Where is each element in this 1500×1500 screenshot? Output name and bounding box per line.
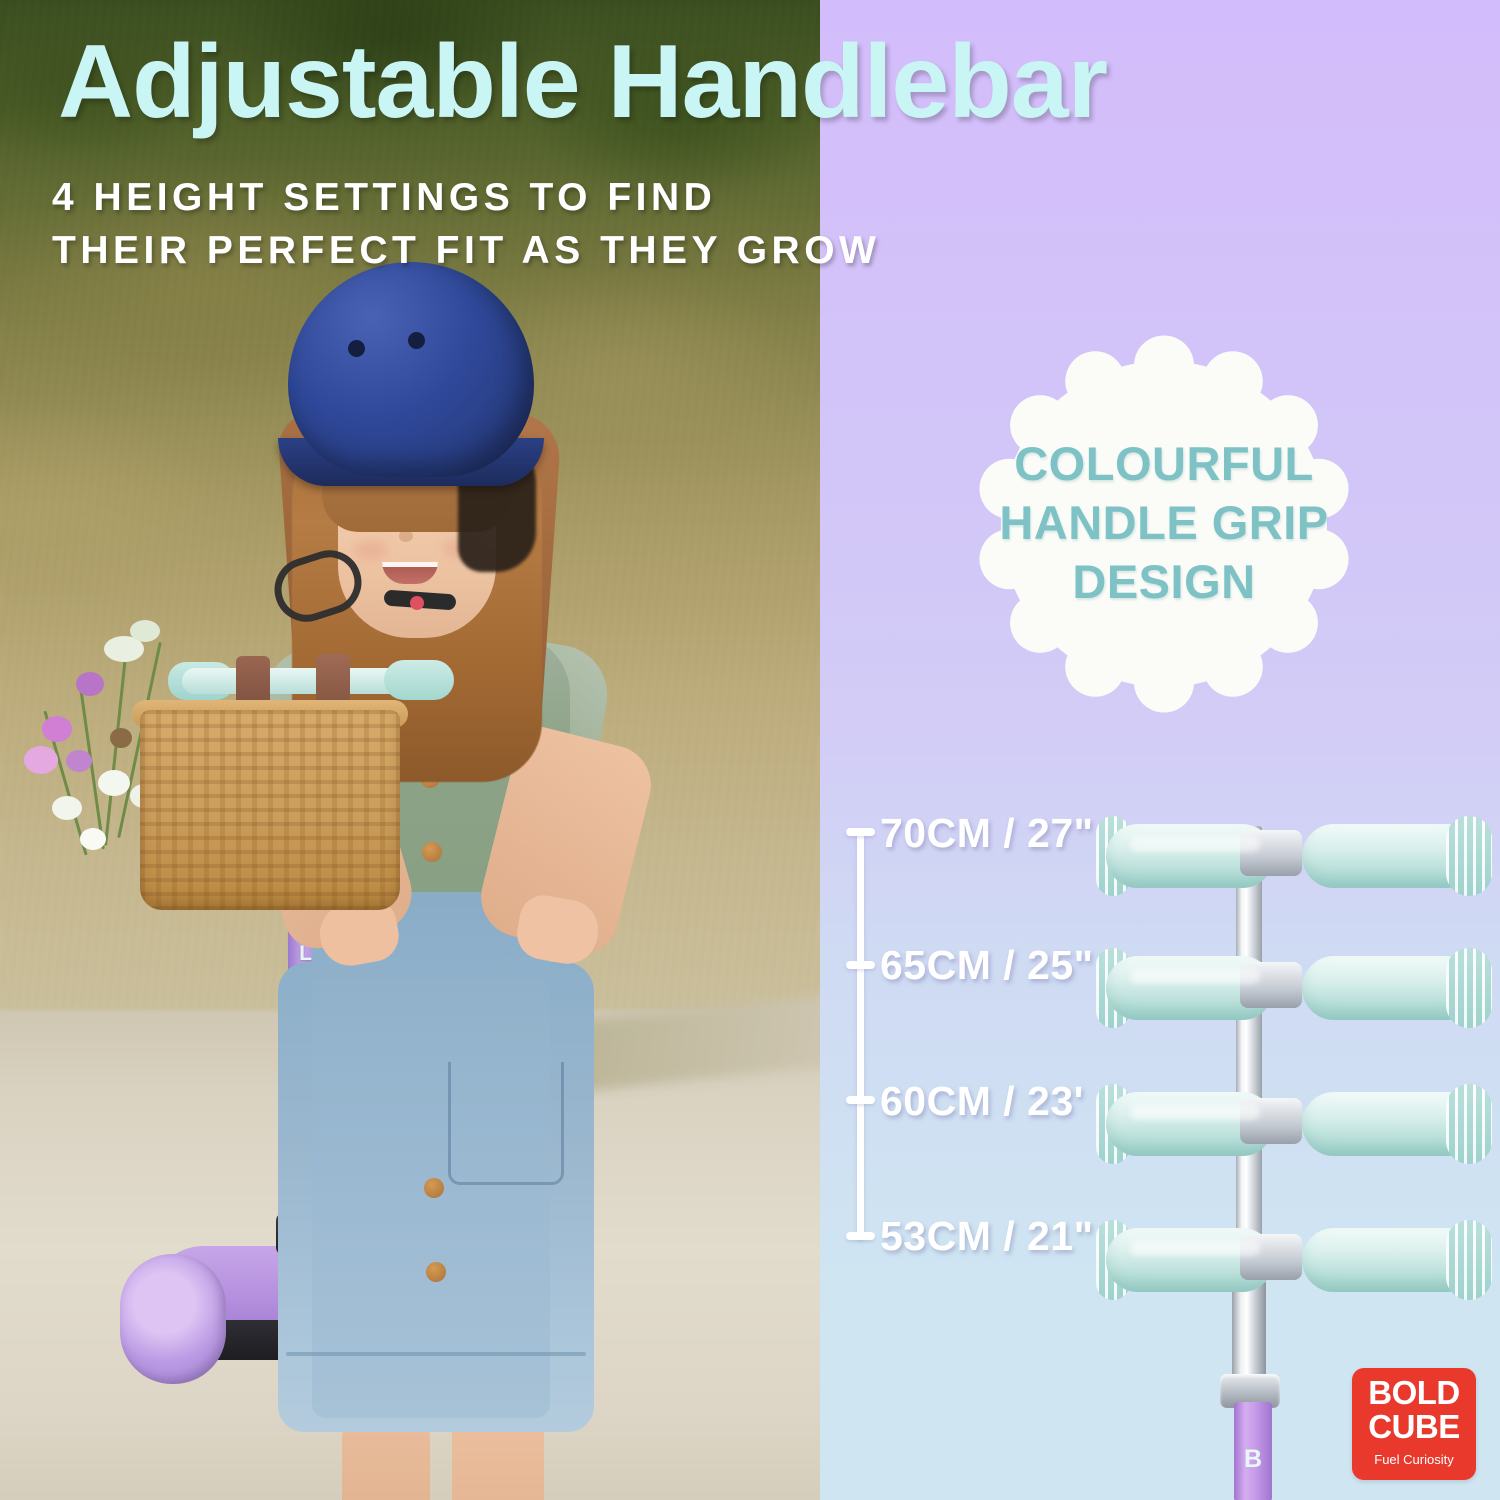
logo-line-cube: CUBE (1352, 1411, 1476, 1443)
grip-highlight (1130, 968, 1260, 984)
dress-button (422, 842, 442, 862)
handlebar-setting-53cm (1090, 1214, 1500, 1306)
logo-line-bold: BOLD (1352, 1377, 1476, 1409)
dress-button (424, 1178, 444, 1198)
height-ruler (846, 828, 874, 1240)
dress-pocket (448, 1062, 564, 1185)
badge-line-2: HANDLE GRIP (958, 493, 1370, 552)
handlebar-setting-60cm (1090, 1078, 1500, 1170)
brand-logo: BOLD CUBE Fuel Curiosity (1352, 1368, 1476, 1480)
dress-hem-seam (286, 1352, 586, 1356)
grip-endcap-right (1446, 816, 1492, 896)
ruler-tick (846, 961, 875, 969)
product-feature-graphic: BOLDCUBE (0, 0, 1500, 1500)
photo-grip-right (384, 660, 454, 700)
strap-bead (410, 596, 424, 610)
helmet-vent (408, 332, 425, 349)
subtitle-line-1: 4 HEIGHT SETTINGS TO FIND (52, 172, 1102, 225)
grip-endcap-right (1446, 1084, 1492, 1164)
cheek-left (354, 540, 388, 560)
ruler-line (857, 828, 864, 1240)
logo-tagline: Fuel Curiosity (1352, 1452, 1476, 1467)
grip-highlight (1130, 836, 1260, 852)
helmet-vent (348, 340, 365, 357)
grip-highlight (1130, 1240, 1260, 1256)
ruler-tick (846, 1232, 875, 1240)
ruler-tick (846, 828, 875, 836)
handlebar-setting-65cm (1090, 942, 1500, 1034)
grip-endcap-right (1446, 1220, 1492, 1300)
badge-line-1: COLOURFUL (958, 434, 1370, 493)
grip-endcap-right (1446, 948, 1492, 1028)
feature-badge: COLOURFUL HANDLE GRIP DESIGN (958, 318, 1370, 730)
badge-text: COLOURFUL HANDLE GRIP DESIGN (958, 434, 1370, 612)
safety-helmet (288, 262, 534, 477)
photo-handlebar (182, 668, 412, 694)
dress-button (426, 1262, 446, 1282)
page-subtitle: 4 HEIGHT SETTINGS TO FIND THEIR PERFECT … (52, 172, 1102, 277)
grip-highlight (1130, 1104, 1260, 1120)
page-title: Adjustable Handlebar (58, 30, 1458, 134)
subtitle-line-2: THEIR PERFECT FIT AS THEY GROW (52, 225, 1102, 278)
handlebar-setting-70cm (1090, 810, 1500, 902)
wicker-basket (140, 710, 400, 910)
pole-brand-letter: B (1236, 1446, 1270, 1472)
badge-line-3: DESIGN (958, 552, 1370, 611)
ruler-tick (846, 1096, 875, 1104)
